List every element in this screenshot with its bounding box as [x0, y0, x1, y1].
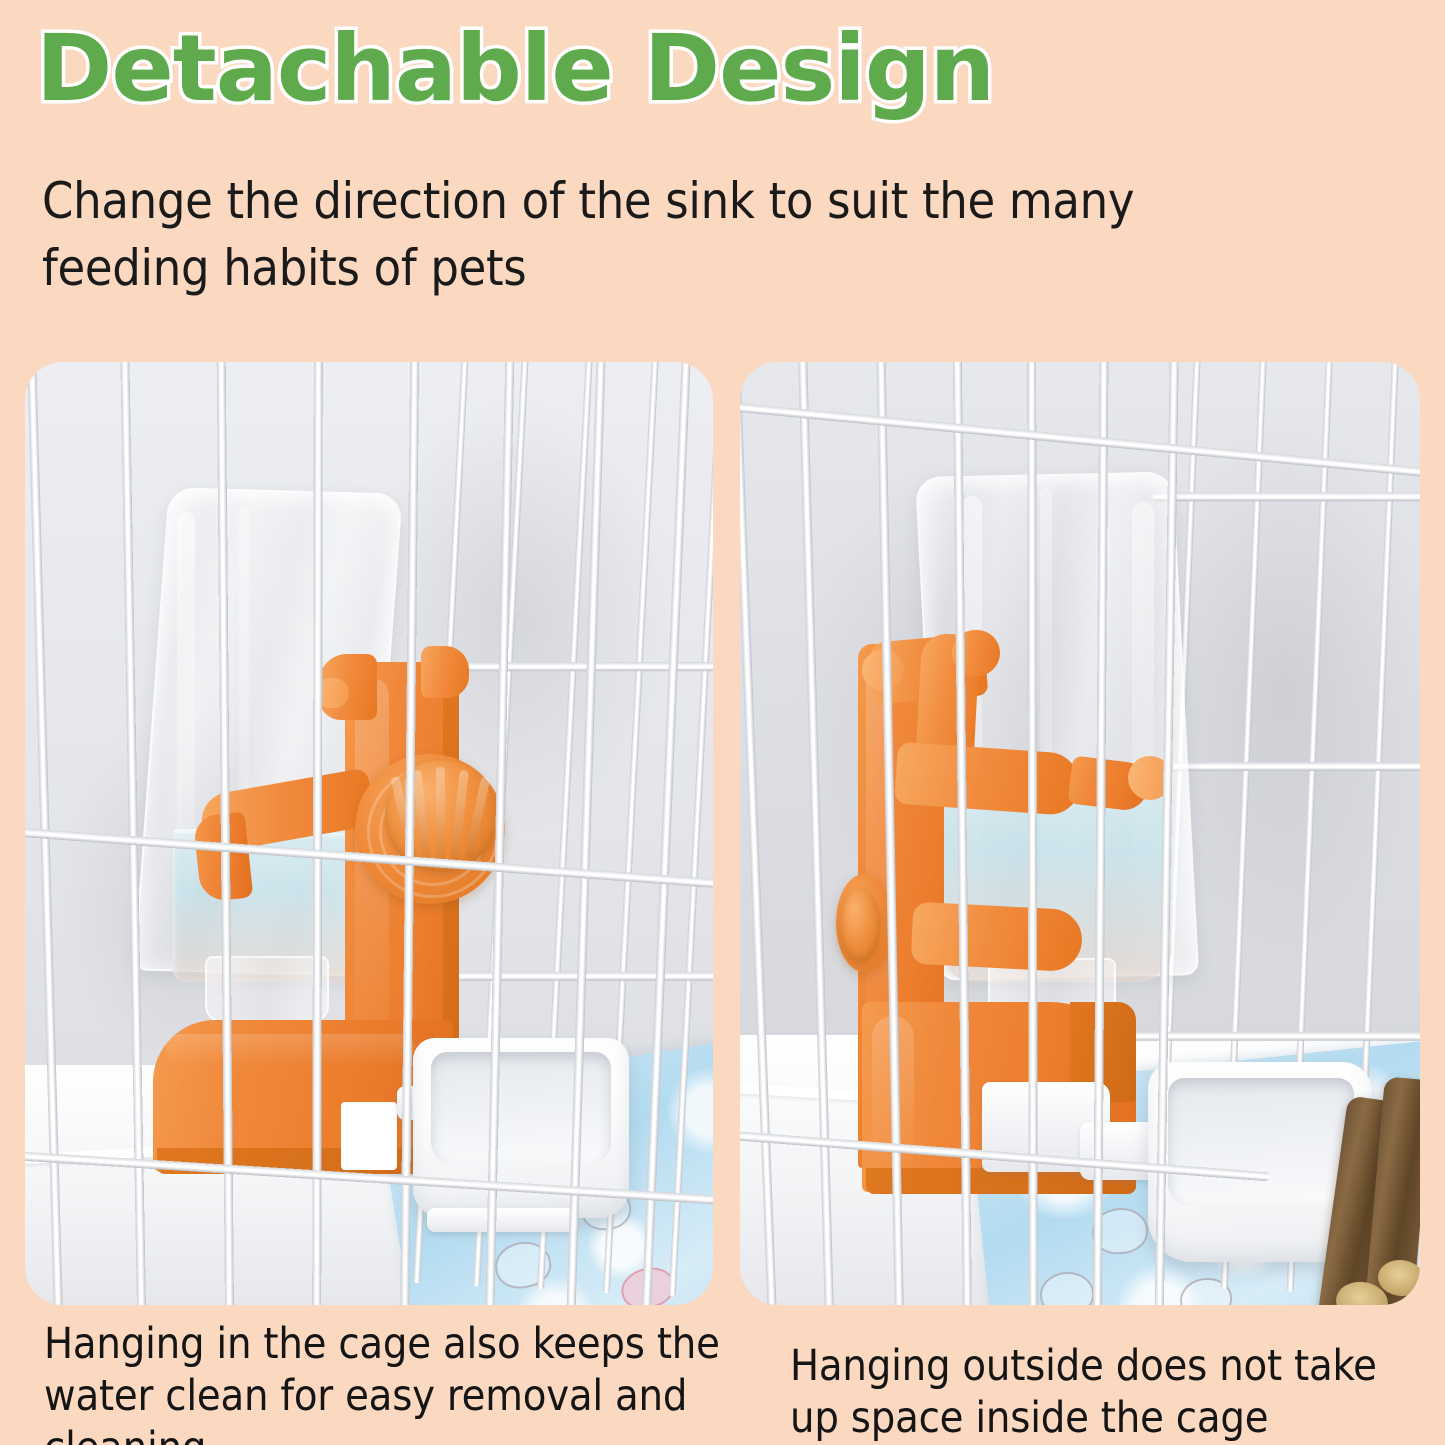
infographic-page: Detachable Design Change the direction o…: [0, 0, 1445, 1445]
cage-wire-vertical: [1027, 362, 1038, 1305]
scene-outside-cage: [740, 362, 1420, 1305]
holder-top-clip-right: [421, 646, 469, 698]
page-title: Detachable Design: [36, 22, 994, 116]
food-bowl-interior: [431, 1052, 611, 1164]
page-subtitle: Change the direction of the sink to suit…: [42, 168, 1302, 302]
food-bowl-interior: [1168, 1078, 1354, 1206]
adjustment-knob[interactable]: [840, 888, 880, 962]
bowl-lower-bracket: [427, 1208, 577, 1232]
holder-lower-cradle: [910, 902, 1083, 973]
photo-panel-inside-cage: [25, 362, 713, 1305]
caption-outside-cage: Hanging outside does not take up space i…: [790, 1340, 1430, 1444]
holder-notch: [341, 1102, 397, 1170]
caption-inside-cage: Hanging in the cage also keeps the water…: [44, 1318, 724, 1445]
holder-base-gloss: [165, 1034, 415, 1066]
holder-bottle-cradle: [894, 742, 1082, 817]
knob-flute: [436, 767, 445, 863]
cage-wire-vertical: [312, 362, 323, 1305]
photo-panel-outside-cage: [740, 362, 1420, 1305]
scene-inside-cage: [25, 362, 713, 1305]
